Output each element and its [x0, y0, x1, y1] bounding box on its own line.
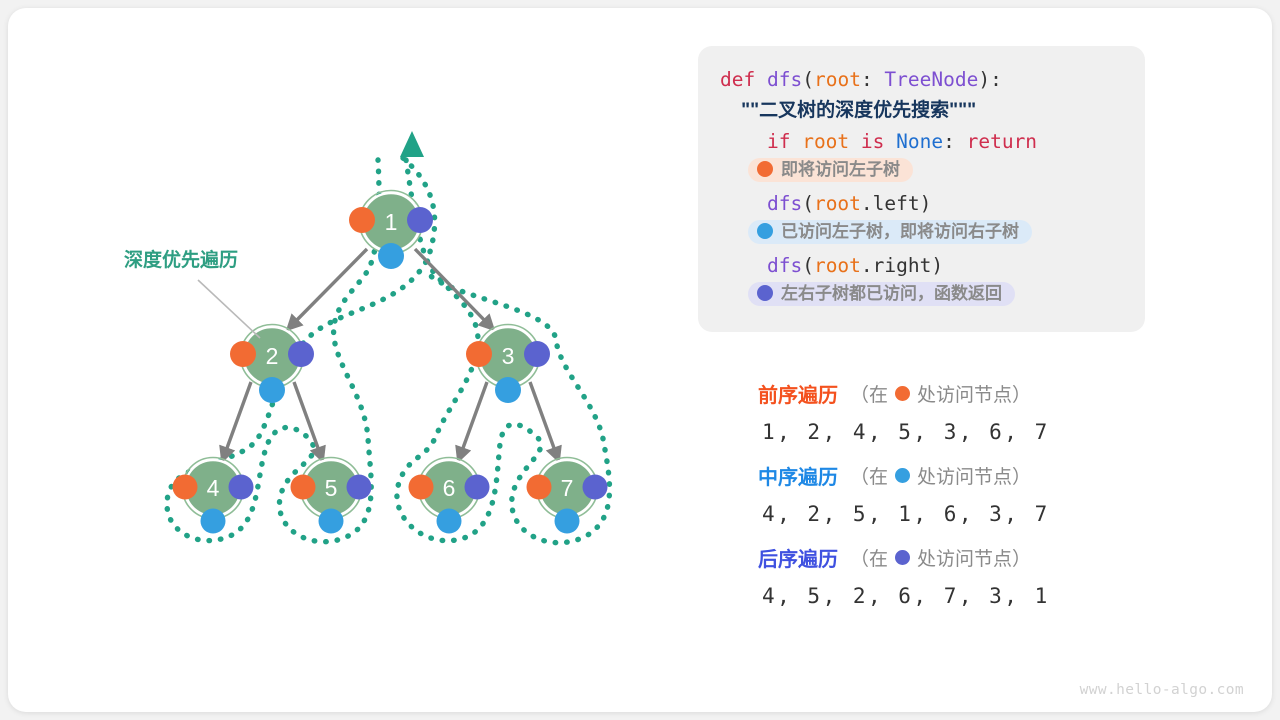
paren-open-right: ( — [802, 254, 814, 277]
node-4-postorder-dot — [229, 475, 254, 500]
node-4-label: 4 — [207, 475, 220, 501]
node-6-preorder-dot — [409, 475, 434, 500]
pill-inorder: 已访问左子树，即将访问右子树 — [748, 220, 1032, 244]
edge-2-4 — [223, 382, 251, 459]
tree-node-1[interactable]: 1 — [349, 191, 433, 270]
annotation-row-postorder: 左右子树都已访问，函数返回 — [720, 281, 1123, 312]
paren-close-colon: ): — [978, 68, 1001, 91]
type-treenode: TreeNode — [884, 68, 978, 91]
edge-1-2 — [289, 249, 367, 328]
pill-preorder-label: 即将访问左子树 — [781, 161, 900, 178]
node-7-preorder-dot — [527, 475, 552, 500]
result-preorder-note: （在 处访问节点） — [850, 380, 1031, 407]
node-5-postorder-dot — [347, 475, 372, 500]
edge-3-7 — [530, 382, 558, 459]
keyword-if: if — [767, 130, 790, 153]
note-close-paren: 处访问节点） — [917, 462, 1031, 489]
dfs-leader-line — [198, 280, 260, 338]
preorder-dot-icon — [895, 386, 910, 401]
result-inorder: 中序遍历 （在 处访问节点） 4, 2, 5, 1, 6, 3, 7 — [758, 458, 1178, 536]
preorder-dot-icon — [757, 161, 773, 177]
tree-svg: 1 2 — [8, 8, 688, 712]
keyword-is: is — [861, 130, 884, 153]
arg-root-right: root — [814, 254, 861, 277]
node-6-label: 6 — [443, 475, 456, 501]
traversal-results: 前序遍历 （在 处访问节点） 1, 2, 4, 5, 3, 6, 7 中序遍历 … — [758, 376, 1178, 622]
guard-colon: : — [943, 130, 966, 153]
node-6-inorder-dot — [437, 509, 462, 534]
node-4-inorder-dot — [201, 509, 226, 534]
result-inorder-head: 中序遍历 （在 处访问节点） — [758, 458, 1178, 492]
node-1-preorder-dot — [349, 207, 375, 233]
node-3-label: 3 — [502, 343, 515, 369]
call-dfs-right: dfs — [767, 254, 802, 277]
docstring-text: ""二叉树的深度优先搜索""" — [741, 100, 976, 121]
code-line-docstring: ""二叉树的深度优先搜索""" — [720, 95, 1123, 126]
var-root-guard: root — [802, 130, 849, 153]
postorder-dot-icon — [895, 550, 910, 565]
result-preorder-sequence: 1, 2, 4, 5, 3, 6, 7 — [758, 410, 1178, 454]
diagram-card: 1 2 — [8, 8, 1272, 712]
tree-node-5[interactable]: 5 — [291, 458, 372, 534]
note-open-paren: （在 — [850, 380, 888, 407]
node-1-label: 1 — [385, 209, 398, 235]
pill-inorder-label: 已访问左子树，即将访问右子树 — [781, 223, 1019, 240]
note-open-paren: （在 — [850, 462, 888, 489]
result-inorder-title: 中序遍历 — [758, 461, 838, 490]
edge-1-3 — [415, 249, 492, 328]
result-preorder-title: 前序遍历 — [758, 379, 838, 408]
node-3-inorder-dot — [495, 377, 521, 403]
node-7-label: 7 — [561, 475, 574, 501]
postorder-dot-icon — [757, 285, 773, 301]
note-close-paren: 处访问节点） — [917, 380, 1031, 407]
node-2-inorder-dot — [259, 377, 285, 403]
code-line-def: def dfs(root: TreeNode): — [720, 64, 1123, 95]
binary-tree-diagram: 1 2 — [8, 8, 688, 712]
tree-node-4[interactable]: 4 — [173, 458, 254, 534]
node-1-inorder-dot — [378, 243, 404, 269]
node-7-inorder-dot — [555, 509, 580, 534]
result-inorder-sequence: 4, 2, 5, 1, 6, 3, 7 — [758, 492, 1178, 536]
arg-root-left: root — [814, 192, 861, 215]
start-triangle-icon — [400, 131, 424, 157]
annotation-row-inorder: 已访问左子树，即将访问右子树 — [720, 219, 1123, 250]
node-6-postorder-dot — [465, 475, 490, 500]
note-close-paren: 处访问节点） — [917, 544, 1031, 571]
node-1-postorder-dot — [407, 207, 433, 233]
result-postorder-note: （在 处访问节点） — [850, 544, 1031, 571]
result-inorder-note: （在 处访问节点） — [850, 462, 1031, 489]
result-postorder-sequence: 4, 5, 2, 6, 7, 3, 1 — [758, 574, 1178, 618]
attr-left: .left — [861, 192, 920, 215]
note-open-paren: （在 — [850, 544, 888, 571]
pill-preorder: 即将访问左子树 — [748, 158, 913, 182]
tree-nodes: 1 2 — [173, 191, 608, 534]
node-2-preorder-dot — [230, 341, 256, 367]
pill-postorder-label: 左右子树都已访问，函数返回 — [781, 285, 1002, 302]
node-2-label: 2 — [266, 343, 279, 369]
tree-node-2[interactable]: 2 — [230, 325, 314, 404]
edge-3-6 — [459, 382, 487, 459]
inorder-dot-icon — [895, 468, 910, 483]
node-4-preorder-dot — [173, 475, 198, 500]
builtin-none: None — [896, 130, 943, 153]
paren-close-left: ) — [920, 192, 932, 215]
inorder-dot-icon — [757, 223, 773, 239]
keyword-def: def — [720, 68, 755, 91]
colon-sep: : — [861, 68, 884, 91]
node-5-inorder-dot — [319, 509, 344, 534]
result-preorder-head: 前序遍历 （在 处访问节点） — [758, 376, 1178, 410]
code-line-guard: if root is None: return — [720, 126, 1123, 157]
paren-open-left: ( — [802, 192, 814, 215]
node-3-preorder-dot — [466, 341, 492, 367]
site-watermark: www.hello-algo.com — [1080, 682, 1244, 698]
pill-postorder: 左右子树都已访问，函数返回 — [748, 282, 1015, 306]
tree-node-6[interactable]: 6 — [409, 458, 490, 534]
node-5-label: 5 — [325, 475, 338, 501]
annotation-row-preorder: 即将访问左子树 — [720, 157, 1123, 188]
result-postorder: 后序遍历 （在 处访问节点） 4, 5, 2, 6, 7, 3, 1 — [758, 540, 1178, 618]
paren-open: ( — [802, 68, 814, 91]
call-dfs-left: dfs — [767, 192, 802, 215]
edge-2-5 — [294, 382, 322, 459]
keyword-return: return — [967, 130, 1037, 153]
node-2-postorder-dot — [288, 341, 314, 367]
param-root: root — [814, 68, 861, 91]
code-line-call-right: dfs(root.right) — [720, 250, 1123, 281]
function-name-dfs: dfs — [767, 68, 802, 91]
result-postorder-title: 后序遍历 — [758, 543, 838, 572]
result-postorder-head: 后序遍历 （在 处访问节点） — [758, 540, 1178, 574]
paren-close-right: ) — [931, 254, 943, 277]
tree-node-7[interactable]: 7 — [527, 458, 608, 534]
node-7-postorder-dot — [583, 475, 608, 500]
result-preorder: 前序遍历 （在 处访问节点） 1, 2, 4, 5, 3, 6, 7 — [758, 376, 1178, 454]
attr-right: .right — [861, 254, 931, 277]
dfs-annotation-label: 深度优先遍历 — [124, 248, 238, 271]
node-3-postorder-dot — [524, 341, 550, 367]
code-line-call-left: dfs(root.left) — [720, 188, 1123, 219]
code-block: def dfs(root: TreeNode): ""二叉树的深度优先搜索"""… — [698, 46, 1145, 332]
node-5-preorder-dot — [291, 475, 316, 500]
